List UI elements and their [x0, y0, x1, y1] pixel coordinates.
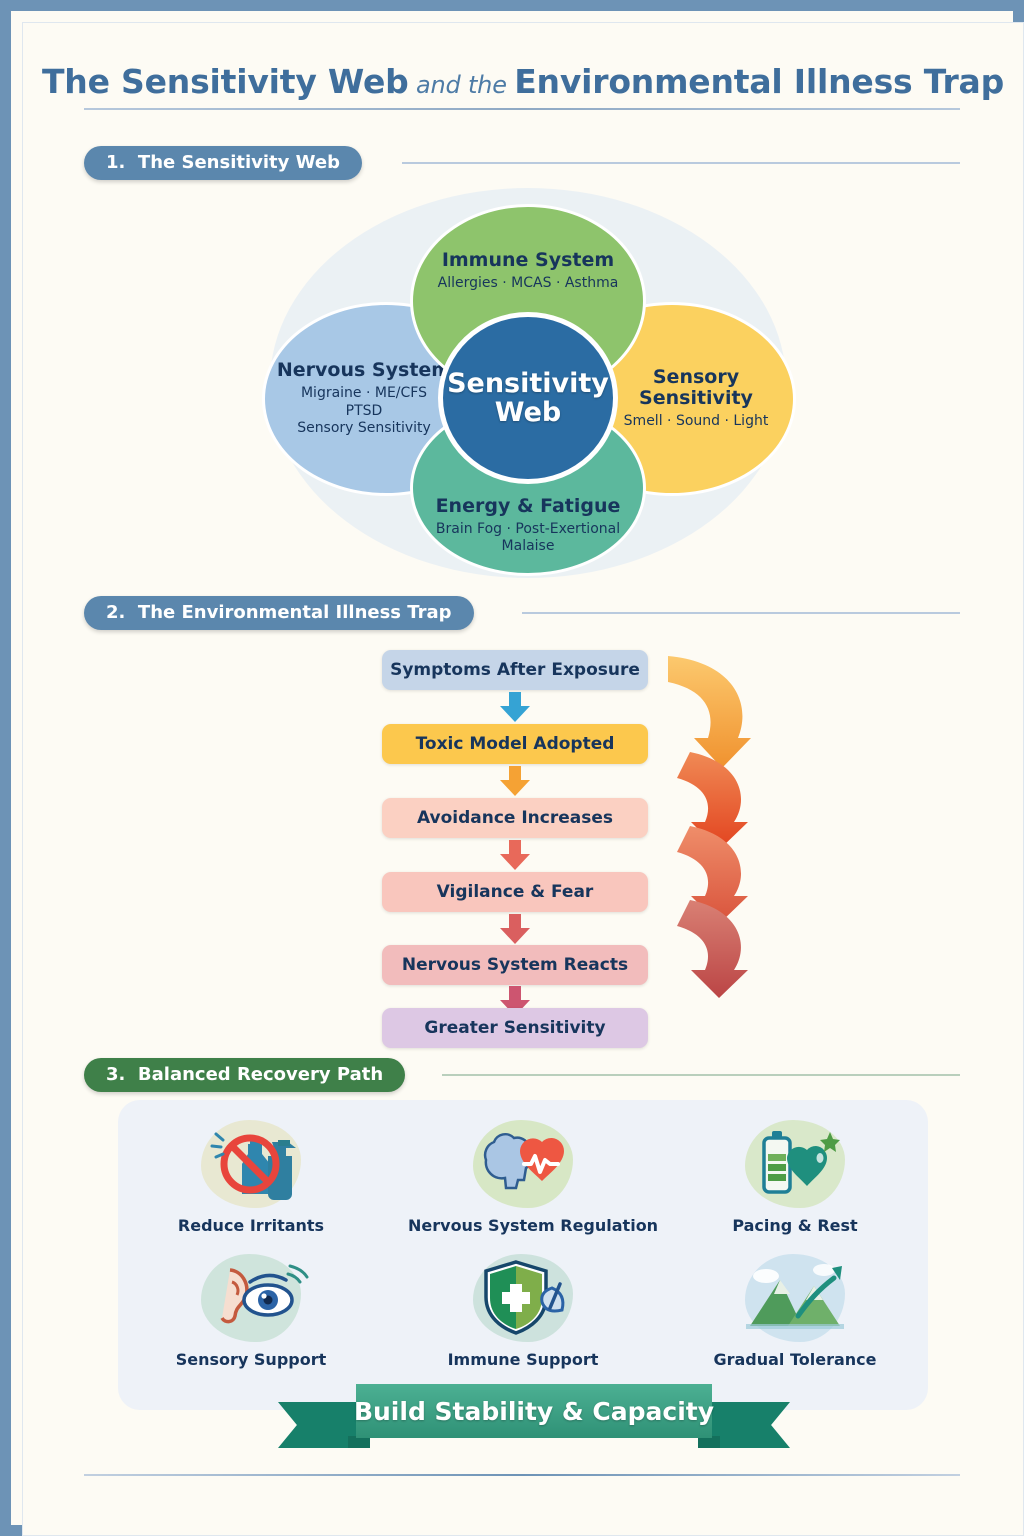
page-title-connector: and the	[409, 71, 515, 99]
section-3-number: 3.	[106, 1064, 125, 1085]
flow-arrow-1	[500, 692, 530, 722]
battery-heart-icon	[736, 1116, 854, 1212]
recovery-item-immune-support[interactable]: Immune Support	[408, 1250, 638, 1369]
venn-core-sensitivity-web: Sensitivity Web	[438, 312, 618, 484]
build-stability-ribbon: Build Stability & Capacity	[278, 1380, 790, 1458]
recovery-item-sensory-support[interactable]: Sensory Support	[136, 1250, 366, 1369]
brain-heart-icon	[464, 1116, 582, 1212]
section-2-number: 2.	[106, 602, 125, 623]
flow-step-2: Toxic Model Adopted	[382, 724, 648, 764]
venn-lobe-immune-sub: Allergies · MCAS · Asthma	[430, 275, 627, 293]
footer-divider	[84, 1474, 960, 1476]
page-title: The Sensitivity Web and the Environmenta…	[22, 62, 1024, 101]
page-title-main: The Sensitivity Web	[42, 62, 409, 101]
section-1-number: 1.	[106, 152, 125, 173]
title-divider	[84, 108, 960, 110]
recovery-caption-5: Gradual Tolerance	[680, 1350, 910, 1369]
section-2-title: The Environmental Illness Trap	[138, 602, 452, 623]
shield-leaf-icon	[464, 1250, 582, 1346]
venn-core-line-2: Web	[495, 398, 561, 427]
no-spray-bottle-icon	[192, 1116, 310, 1212]
section-1-title: The Sensitivity Web	[138, 152, 340, 173]
flow-step-4: Vigilance & Fear	[382, 872, 648, 912]
venn-lobe-energy-sub: Brain Fog · Post-ExertionalMalaise	[428, 521, 628, 556]
recovery-caption-4: Immune Support	[408, 1350, 638, 1369]
recovery-item-reduce-irritants[interactable]: Reduce Irritants	[136, 1116, 366, 1235]
infographic-canvas: The Sensitivity Web and the Environmenta…	[22, 22, 1024, 1536]
ribbon-label: Build Stability & Capacity	[356, 1384, 712, 1438]
venn-lobe-sensory-label: SensorySensitivity	[639, 367, 753, 409]
ear-eye-icon	[192, 1250, 310, 1346]
balanced-recovery-panel: Reduce Irritants Nervous System Regulati…	[118, 1100, 928, 1410]
section-3-badge: 3. Balanced Recovery Path	[84, 1058, 405, 1092]
venn-lobe-energy-label: Energy & Fatigue	[436, 496, 621, 517]
section-3-rule	[442, 1074, 960, 1076]
flow-arrow-2	[500, 766, 530, 796]
section-2-rule	[522, 612, 960, 614]
flow-step-5: Nervous System Reacts	[382, 945, 648, 985]
section-1-badge: 1. The Sensitivity Web	[84, 146, 362, 180]
recovery-item-pacing-rest[interactable]: Pacing & Rest	[680, 1116, 910, 1235]
flow-step-6: Greater Sensitivity	[382, 1008, 648, 1048]
venn-lobe-nervous-label: Nervous System	[277, 360, 451, 381]
venn-lobe-nervous-sub: Migraine · ME/CFSPTSDSensory Sensitivity	[289, 385, 439, 438]
mountain-arrow-icon	[736, 1250, 854, 1346]
section-1-rule	[402, 162, 960, 164]
flow-step-1: Symptoms After Exposure	[382, 650, 648, 690]
recovery-caption-1: Nervous System Regulation	[408, 1216, 638, 1235]
venn-lobe-sensory-sub: Smell · Sound · Light	[616, 413, 777, 431]
sensitivity-web-venn: Nervous System Migraine · ME/CFSPTSDSens…	[258, 184, 798, 582]
recovery-caption-0: Reduce Irritants	[136, 1216, 366, 1235]
section-3-title: Balanced Recovery Path	[138, 1064, 383, 1085]
infographic-frame: The Sensitivity Web and the Environmenta…	[0, 0, 1024, 1536]
venn-lobe-immune-label: Immune System	[442, 250, 614, 271]
recovery-caption-2: Pacing & Rest	[680, 1216, 910, 1235]
section-2-badge: 2. The Environmental Illness Trap	[84, 596, 474, 630]
flow-arrow-4	[500, 914, 530, 944]
flow-step-3: Avoidance Increases	[382, 798, 648, 838]
recovery-item-gradual-tolerance[interactable]: Gradual Tolerance	[680, 1250, 910, 1369]
page-title-end: Environmental Illness Trap	[514, 62, 1004, 101]
recovery-caption-3: Sensory Support	[136, 1350, 366, 1369]
flow-arrow-3	[500, 840, 530, 870]
recovery-item-nervous-system-regulation[interactable]: Nervous System Regulation	[408, 1116, 638, 1235]
environmental-illness-trap-flow: Symptoms After Exposure Toxic Model Adop…	[22, 634, 1024, 1044]
venn-core-line-1: Sensitivity	[447, 369, 609, 398]
